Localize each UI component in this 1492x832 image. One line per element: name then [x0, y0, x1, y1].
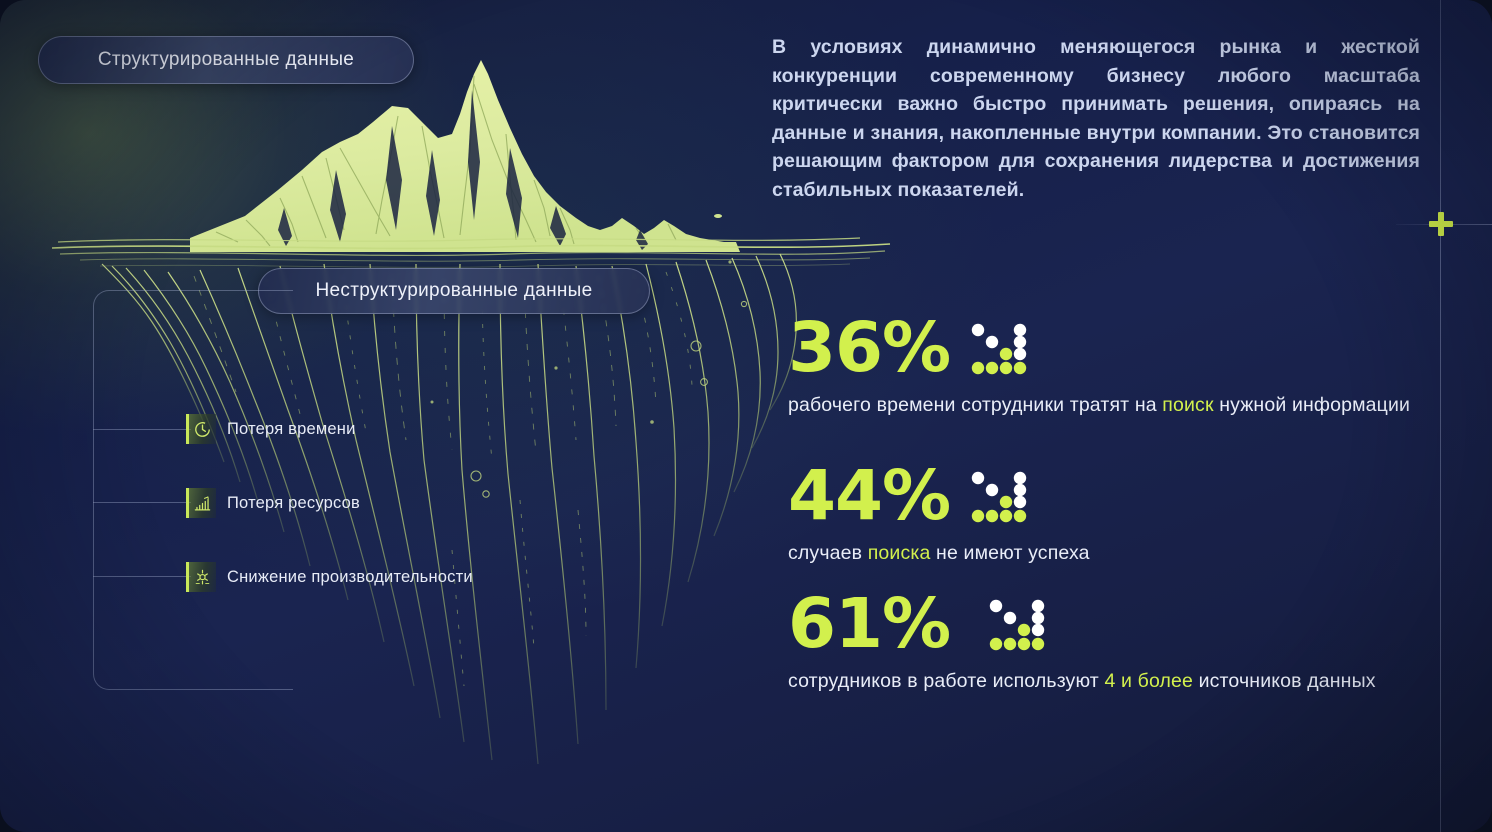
connector-line-3: [93, 576, 191, 577]
factor-label: Потеря ресурсов: [227, 494, 360, 513]
stat-desc-highlight: 4 и более: [1104, 670, 1193, 692]
stat-block-44: 44% случаев поиска не имеют успеха: [788, 464, 1428, 566]
clock-icon: [186, 414, 216, 444]
factor-label: Потеря времени: [227, 420, 356, 439]
stat-headline: 61%: [788, 592, 1428, 658]
dot-pattern-icon: [970, 322, 1032, 380]
bar-chart-icon: [186, 488, 216, 518]
stat-desc-before: случаев: [788, 542, 868, 564]
label-structured-data[interactable]: Структурированные данные: [38, 36, 414, 84]
slide-canvas: Структурированные данные Неструктурирова…: [0, 0, 1492, 832]
stat-value: 36%: [788, 316, 950, 382]
stat-desc-after: источников данных: [1193, 670, 1376, 692]
stat-description: случаев поиска не имеют успеха: [788, 541, 1428, 566]
stat-description: сотрудников в работе используют 4 и боле…: [788, 669, 1428, 694]
stat-desc-after: не имеют успеха: [930, 542, 1089, 564]
intro-paragraph: В условиях динамично меняющегося рынка и…: [772, 33, 1420, 205]
factor-row-time-loss[interactable]: Потеря времени: [186, 414, 356, 444]
dot-pattern-icon: [988, 598, 1050, 656]
dot-pattern-icon: [970, 470, 1032, 528]
crosshair-vertical-line: [1440, 0, 1441, 832]
stat-headline: 36%: [788, 316, 1428, 382]
factor-row-resource-loss[interactable]: Потеря ресурсов: [186, 488, 360, 518]
label-unstructured-data[interactable]: Неструктурированные данные: [258, 268, 650, 314]
productivity-icon: [186, 562, 216, 592]
stat-desc-before: рабочего времени сотрудники тратят на: [788, 394, 1162, 416]
iceberg-bubbles: [471, 301, 747, 497]
factor-label: Снижение производительности: [227, 568, 473, 587]
crosshair-plus-icon: [1429, 212, 1453, 236]
factor-row-productivity-drop[interactable]: Снижение производительности: [186, 562, 473, 592]
stat-value: 61%: [788, 592, 950, 658]
stat-desc-after: нужной информации: [1214, 394, 1410, 416]
stat-value: 44%: [788, 464, 950, 530]
iceberg-peak: [190, 60, 740, 252]
stat-block-36: 36% рабочего времени сотрудники тратят н…: [788, 316, 1428, 418]
connector-line-2: [93, 502, 191, 503]
stat-desc-highlight: поиск: [1162, 394, 1213, 416]
stat-headline: 44%: [788, 464, 1428, 530]
connector-line-1: [93, 429, 191, 430]
stat-desc-before: сотрудников в работе используют: [788, 670, 1104, 692]
stat-description: рабочего времени сотрудники тратят на по…: [788, 393, 1428, 418]
stat-block-61: 61% сотрудников в работе используют 4 и …: [788, 592, 1428, 694]
stat-desc-highlight: поиска: [868, 542, 931, 564]
